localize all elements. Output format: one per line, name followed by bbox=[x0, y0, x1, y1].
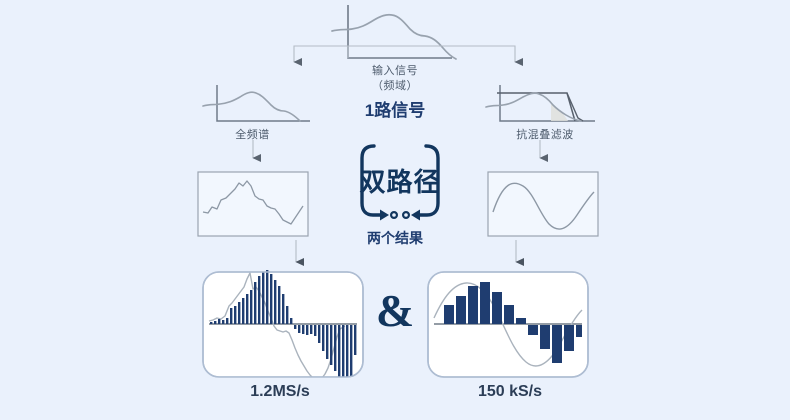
ampersand-symbol: & bbox=[369, 288, 421, 334]
result-panel-low-rate bbox=[428, 272, 588, 377]
dual-path-diagram: 输入信号 （频域） 1路信号 全频谱 抗混叠滤波 双路径 两个结果 & 1.2M… bbox=[0, 0, 790, 420]
label-one-channel-signal: 1路信号 bbox=[320, 96, 470, 121]
anti-alias-filter-chart bbox=[486, 85, 595, 121]
label-sample-rate-high: 1.2MS/s bbox=[200, 383, 360, 401]
label-full-spectrum: 全频谱 bbox=[185, 126, 320, 142]
result-panel-high-rate bbox=[203, 270, 363, 395]
label-sample-rate-low: 150 kS/s bbox=[425, 383, 595, 401]
full-spectrum-chart bbox=[203, 85, 310, 121]
label-input-signal: 输入信号 （频域） bbox=[320, 64, 470, 94]
label-input-signal-line1: 输入信号 bbox=[320, 64, 470, 79]
diagram-graphics bbox=[0, 0, 790, 420]
noisy-waveform-box bbox=[198, 172, 308, 236]
label-input-signal-line2: （频域） bbox=[320, 79, 470, 94]
dual-path-title: 双路径 bbox=[340, 162, 460, 199]
sine-waveform-box bbox=[488, 172, 598, 236]
label-anti-alias-filter: 抗混叠滤波 bbox=[470, 126, 620, 142]
input-spectrum-chart bbox=[332, 5, 456, 59]
branch-connector bbox=[294, 46, 515, 62]
label-two-results: 两个结果 bbox=[320, 228, 470, 248]
